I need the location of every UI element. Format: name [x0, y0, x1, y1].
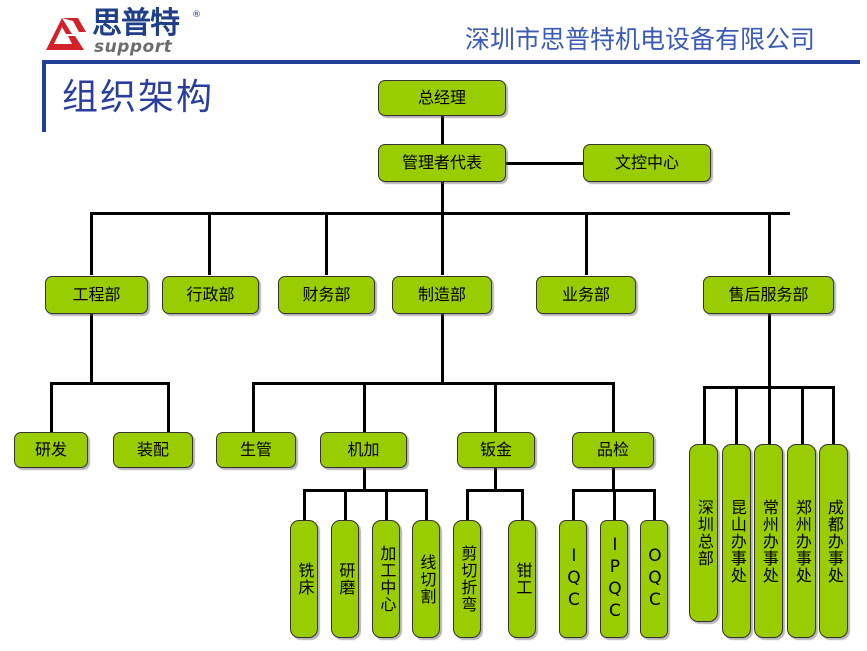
connector-drop-prodmgmt [252, 382, 255, 434]
node-bench-work[interactable]: 钳工 [508, 520, 536, 638]
connector-drop-assembly [167, 382, 170, 434]
connector-manufacturing-stem [441, 314, 444, 384]
node-management-representative[interactable]: 管理者代表 [378, 144, 506, 182]
connector-drop-oqc [653, 489, 656, 521]
node-sheet-metal[interactable]: 钣金 [457, 432, 535, 468]
connector-drop-finance [325, 212, 328, 275]
node-manufacturing-department[interactable]: 制造部 [392, 276, 492, 314]
node-shenzhen-headquarters[interactable]: 深圳总部 [689, 444, 718, 622]
connector-drop-benchwork [521, 489, 524, 521]
connector-sheetmetal-bus [466, 489, 524, 492]
node-chengdu-office[interactable]: 成都办事处 [819, 444, 848, 638]
node-shearing-bending[interactable]: 剪切折弯 [453, 520, 481, 638]
connector-drop-machining [363, 382, 366, 434]
connector-mgmtrep-to-bus [441, 182, 444, 214]
company-name: 深圳市思普特机电设备有限公司 [430, 20, 850, 56]
node-engineering-department[interactable]: 工程部 [45, 276, 148, 314]
logo-english-text: support [94, 38, 172, 56]
connector-service-stem [768, 314, 771, 388]
title-accent-bar [42, 60, 46, 132]
connector-drop-rd [50, 382, 53, 434]
connector-sheetmetal-stem [494, 466, 497, 491]
logo-registered-icon: ® [192, 10, 201, 20]
connector-drop-service [768, 212, 771, 275]
node-grinding[interactable]: 研磨 [331, 520, 359, 638]
connector-drop-iqc [572, 489, 575, 521]
node-finance-department[interactable]: 财务部 [278, 276, 375, 314]
node-oqc[interactable]: OQC [640, 520, 668, 638]
node-assembly[interactable]: 装配 [113, 432, 193, 468]
node-after-sales-service-department[interactable]: 售后服务部 [703, 276, 834, 314]
connector-manufacturing-bus [252, 382, 615, 385]
node-document-control-center[interactable]: 文控中心 [583, 144, 711, 182]
org-chart-slide: 思普特 ® support 深圳市思普特机电设备有限公司 组织架构 [0, 0, 867, 651]
connector-drop-zhengzhou [801, 386, 804, 445]
company-logo: 思普特 ® support [42, 8, 232, 58]
connector-mgmtrep-to-doccontrol [505, 162, 585, 165]
connector-drop-sheetmetal [494, 382, 497, 434]
connector-drop-manufacturing [441, 212, 444, 275]
node-wire-cutting[interactable]: 线切割 [412, 520, 440, 638]
connector-drop-shearbend [466, 489, 469, 521]
logo-chinese-text: 思普特 [92, 8, 179, 40]
connector-drop-shenzhen [703, 386, 706, 445]
connector-gm-to-mgmtrep [441, 114, 444, 144]
node-general-manager[interactable]: 总经理 [378, 80, 506, 116]
connector-drop-milling [303, 489, 306, 521]
page-title: 组织架构 [62, 68, 214, 120]
node-quality-inspection[interactable]: 品检 [572, 432, 654, 468]
connector-qc-stem [612, 466, 615, 491]
connector-drop-changzhou [768, 386, 771, 445]
node-iqc[interactable]: IQC [559, 520, 587, 638]
node-ipqc[interactable]: IPQC [600, 520, 628, 638]
node-rd[interactable]: 研发 [14, 432, 88, 468]
connector-department-bus [90, 212, 790, 215]
connector-engineering-bus [50, 382, 170, 385]
connector-machining-bus [303, 489, 427, 492]
connector-drop-machinecenter [385, 489, 388, 521]
node-zhengzhou-office[interactable]: 郑州办事处 [787, 444, 816, 638]
connector-engineering-stem [90, 314, 93, 384]
connector-drop-engineering [90, 212, 93, 275]
node-kunshan-office[interactable]: 昆山办事处 [722, 444, 751, 638]
connector-drop-sales [585, 212, 588, 275]
node-changzhou-office[interactable]: 常州办事处 [754, 444, 783, 638]
node-production-management[interactable]: 生管 [216, 432, 296, 468]
connector-drop-admin [208, 212, 211, 275]
header-divider [42, 60, 860, 64]
connector-drop-ipqc [613, 489, 616, 521]
node-sales-department[interactable]: 业务部 [536, 276, 636, 314]
connector-drop-chengdu [832, 386, 835, 445]
connector-drop-qc [612, 382, 615, 434]
connector-drop-grinding [344, 489, 347, 521]
connector-drop-kunshan [735, 386, 738, 445]
node-machining[interactable]: 机加 [320, 432, 407, 468]
logo-arrow-icon [42, 14, 90, 54]
connector-drop-wirecut [425, 489, 428, 521]
node-milling-machine[interactable]: 铣床 [290, 520, 318, 638]
node-administration-department[interactable]: 行政部 [162, 276, 259, 314]
node-machining-center[interactable]: 加工中心 [372, 520, 400, 638]
connector-machining-stem [363, 466, 366, 491]
